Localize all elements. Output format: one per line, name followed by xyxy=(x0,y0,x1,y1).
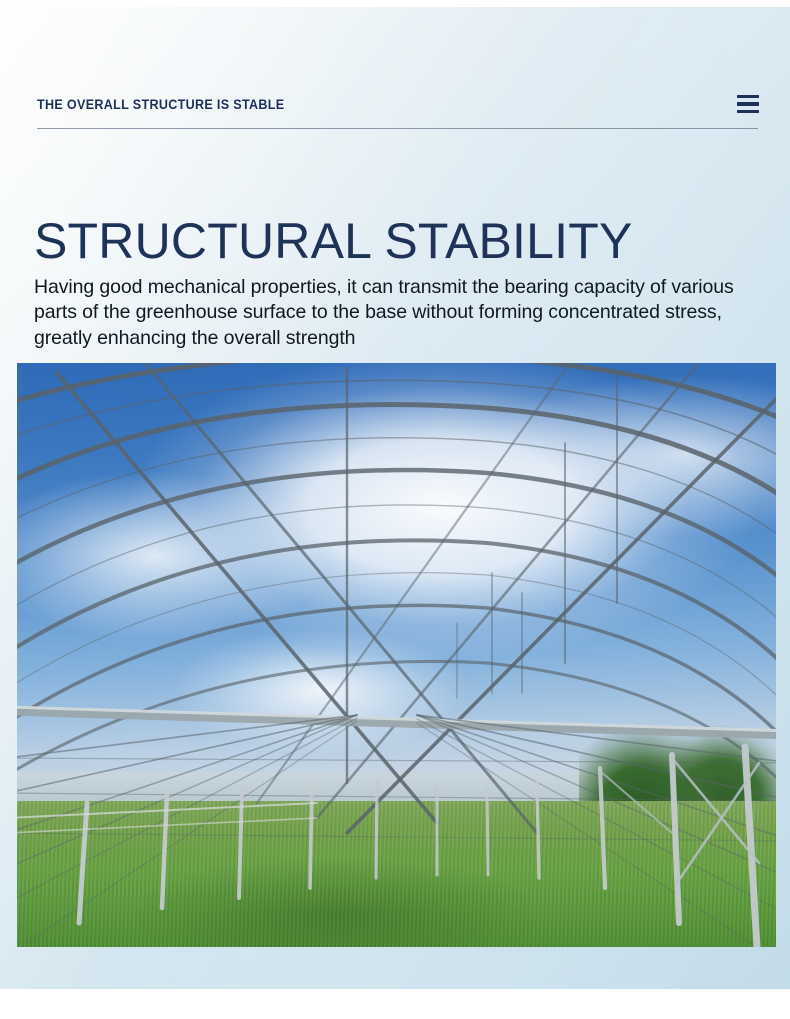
hamburger-bar-1 xyxy=(737,95,759,98)
page-title: STRUCTURAL STABILITY xyxy=(34,216,633,266)
eyebrow-title: THE OVERALL STRUCTURE IS STABLE xyxy=(37,97,284,112)
page-root: THE OVERALL STRUCTURE IS STABLE STRUCTUR… xyxy=(0,0,790,1019)
hamburger-bar-2 xyxy=(737,102,759,105)
page-header: THE OVERALL STRUCTURE IS STABLE xyxy=(37,88,759,120)
hamburger-menu-icon[interactable] xyxy=(737,95,759,113)
hero-paragraph: Having good mechanical properties, it ca… xyxy=(34,275,740,352)
greenhouse-photo xyxy=(17,363,776,947)
top-white-strip xyxy=(0,0,790,7)
header-divider xyxy=(37,128,758,129)
greenhouse-frame-lines xyxy=(17,363,776,947)
bottom-white-strip xyxy=(0,989,790,1019)
photo-scene xyxy=(17,363,776,947)
hamburger-bar-3 xyxy=(737,110,759,113)
